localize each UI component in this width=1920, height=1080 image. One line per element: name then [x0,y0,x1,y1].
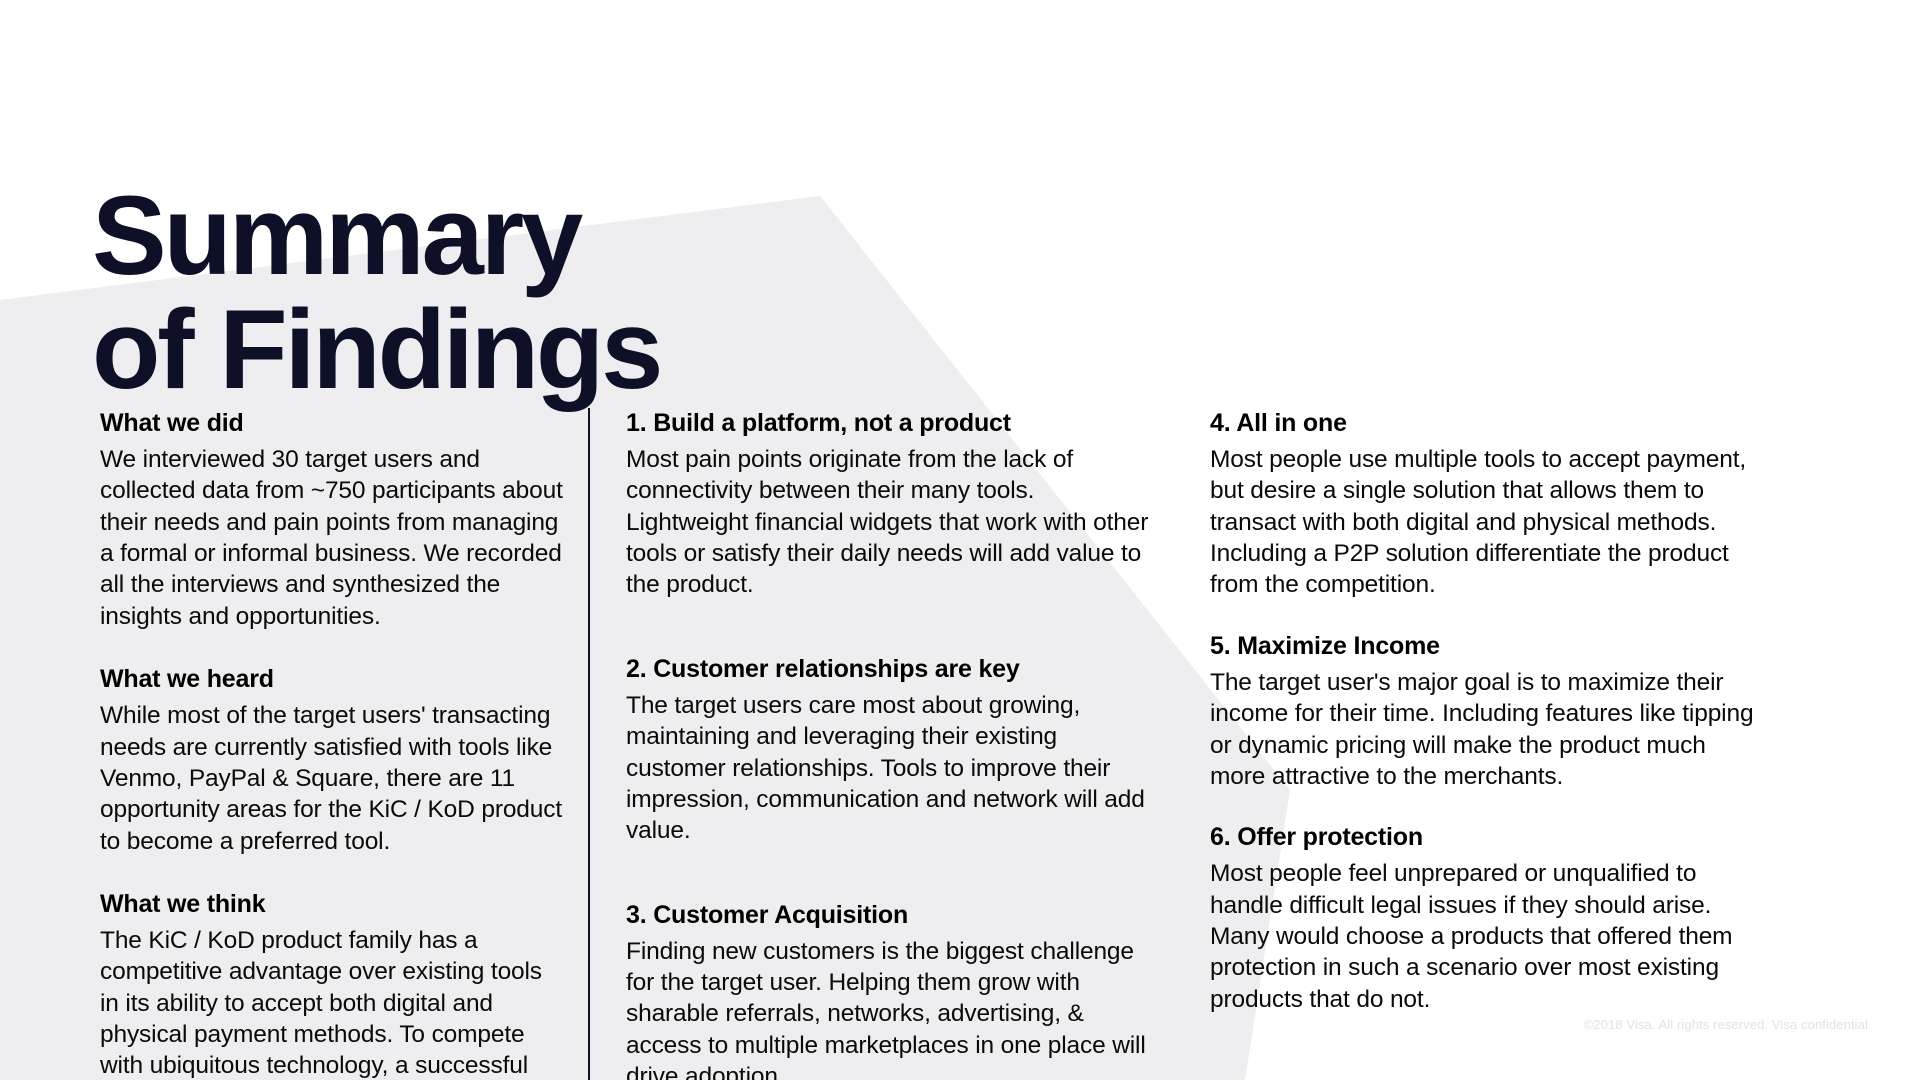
block-finding-5: 5. Maximize Income The target user's maj… [1210,631,1758,792]
block-finding-4: 4. All in one Most people use multiple t… [1210,408,1758,601]
block-body: While most of the target users' transact… [100,700,566,857]
block-finding-2: 2. Customer relationships are key The ta… [626,654,1162,847]
block-what-we-think: What we think The KiC / KoD product fami… [100,889,566,1080]
block-body: The KiC / KoD product family has a compe… [100,925,566,1080]
column-left: What we did We interviewed 30 target use… [0,408,588,1080]
block-body: Most people feel unprepared or unqualifi… [1210,858,1758,1015]
block-heading: 6. Offer protection [1210,822,1758,853]
content-columns: What we did We interviewed 30 target use… [0,408,1920,1080]
block-what-we-did: What we did We interviewed 30 target use… [100,408,566,632]
block-finding-1: 1. Build a platform, not a product Most … [626,408,1162,601]
block-body: Most people use multiple tools to accept… [1210,444,1758,601]
block-body: We interviewed 30 target users and colle… [100,444,566,632]
block-heading: What we did [100,408,566,439]
page-title: Summary of Findings [92,179,660,407]
block-body: The target user's major goal is to maxim… [1210,667,1758,792]
column-middle: 1. Build a platform, not a product Most … [588,408,1188,1080]
block-body: The target users care most about growing… [626,690,1162,847]
block-heading: 1. Build a platform, not a product [626,408,1162,439]
block-finding-6: 6. Offer protection Most people feel unp… [1210,822,1758,1015]
block-what-we-heard: What we heard While most of the target u… [100,664,566,857]
block-body: Most pain points originate from the lack… [626,444,1162,601]
presentation-slide: Summary of Findings What we did We inter… [0,0,1920,1080]
block-heading: 4. All in one [1210,408,1758,439]
block-heading: 2. Customer relationships are key [626,654,1162,685]
block-body: Finding new customers is the biggest cha… [626,936,1162,1080]
column-right: 4. All in one Most people use multiple t… [1188,408,1788,1015]
footer-copyright: ©2018 Visa. All rights reserved. Visa co… [1584,1017,1868,1032]
block-heading: 5. Maximize Income [1210,631,1758,662]
block-heading: What we heard [100,664,566,695]
block-heading: 3. Customer Acquisition [626,900,1162,931]
block-heading: What we think [100,889,566,920]
block-finding-3: 3. Customer Acquisition Finding new cust… [626,900,1162,1080]
